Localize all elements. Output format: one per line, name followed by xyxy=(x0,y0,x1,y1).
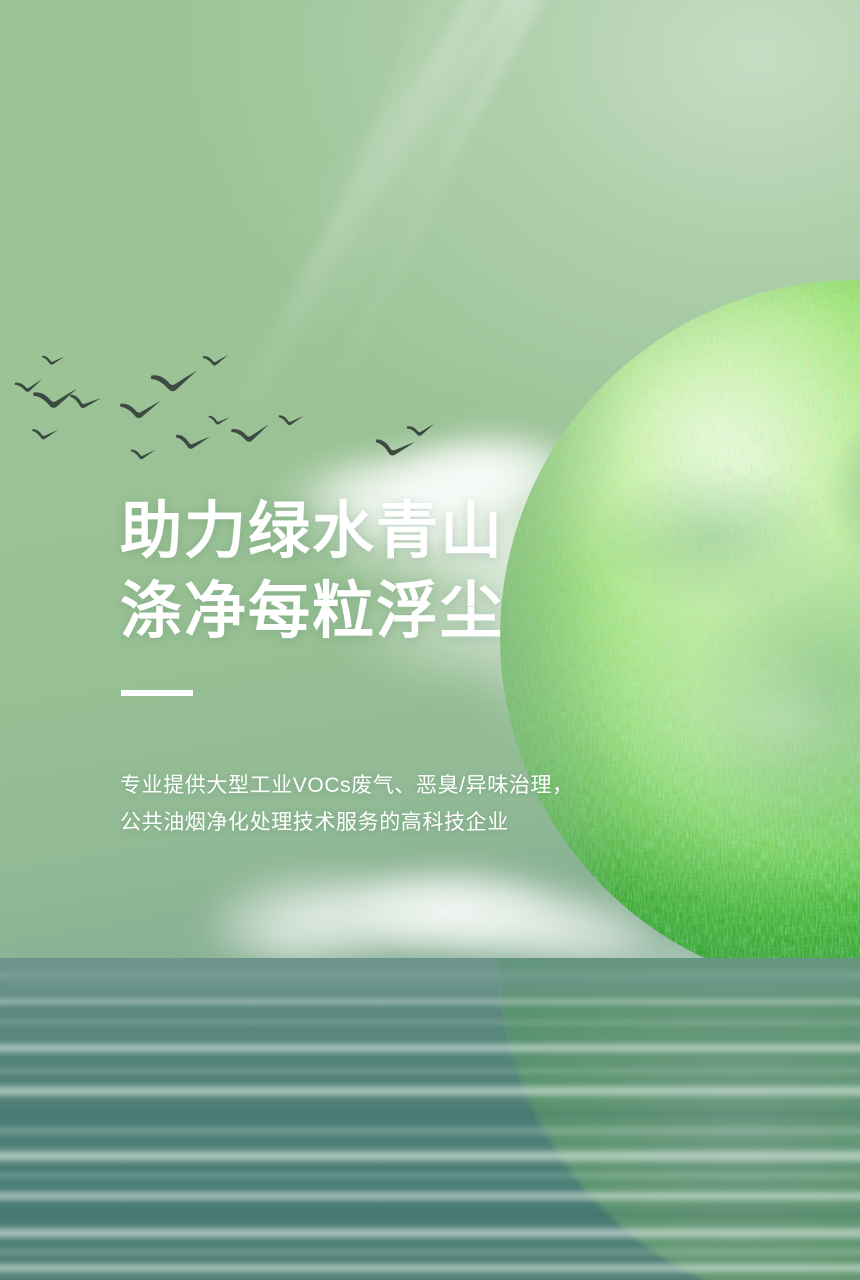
bird-icon xyxy=(119,398,163,424)
page-title: 助力绿水青山 涤净每粒浮尘 xyxy=(120,492,504,652)
bird-icon xyxy=(202,353,229,369)
bird-icon xyxy=(31,427,58,443)
bird-icon xyxy=(278,413,304,429)
headline-line-1: 助力绿水青山 xyxy=(120,492,504,572)
water-streak-13 xyxy=(0,1226,860,1240)
bird-icon xyxy=(150,367,200,398)
water-streak-2 xyxy=(0,998,860,1005)
bird-icon xyxy=(230,422,272,448)
subtitle-line-2: 公共油烟净化处理技术服务的高科技企业 xyxy=(120,804,574,841)
bird-icon xyxy=(130,447,156,462)
water-streak-12 xyxy=(0,1210,860,1219)
water-streak-6 xyxy=(0,1084,860,1098)
water-streak-8 xyxy=(0,1126,860,1136)
title-divider xyxy=(121,690,193,696)
headline-line-2: 涤净每粒浮尘 xyxy=(120,572,504,652)
water-streak-14 xyxy=(0,1248,860,1256)
water-horizon-blend xyxy=(0,958,860,992)
bird-icon xyxy=(41,354,65,369)
bird-icon xyxy=(406,422,436,440)
water-streak-11 xyxy=(0,1190,860,1202)
water-streak-7 xyxy=(0,1110,860,1118)
banner-stage: 助力绿水青山 涤净每粒浮尘 专业提供大型工业VOCs废气、恶臭/异味治理， 公共… xyxy=(0,0,860,1280)
water-surface xyxy=(0,958,860,1280)
bird-icon xyxy=(174,432,211,455)
flying-birds-flock xyxy=(0,330,470,470)
water-streak-4 xyxy=(0,1042,860,1054)
grass-earth-globe xyxy=(500,280,860,992)
bird-icon xyxy=(207,414,230,428)
bird-icon xyxy=(374,436,416,462)
subtitle-line-1: 专业提供大型工业VOCs废气、恶臭/异味治理， xyxy=(120,767,574,804)
water-streak-15 xyxy=(0,1262,860,1274)
water-streak-10 xyxy=(0,1172,860,1179)
globe-edge-fade xyxy=(500,280,624,992)
page-subtitle: 专业提供大型工业VOCs废气、恶臭/异味治理， 公共油烟净化处理技术服务的高科技… xyxy=(120,767,574,841)
water-streak-9 xyxy=(0,1148,860,1164)
water-streak-3 xyxy=(0,1020,860,1025)
water-streak-5 xyxy=(0,1068,860,1074)
